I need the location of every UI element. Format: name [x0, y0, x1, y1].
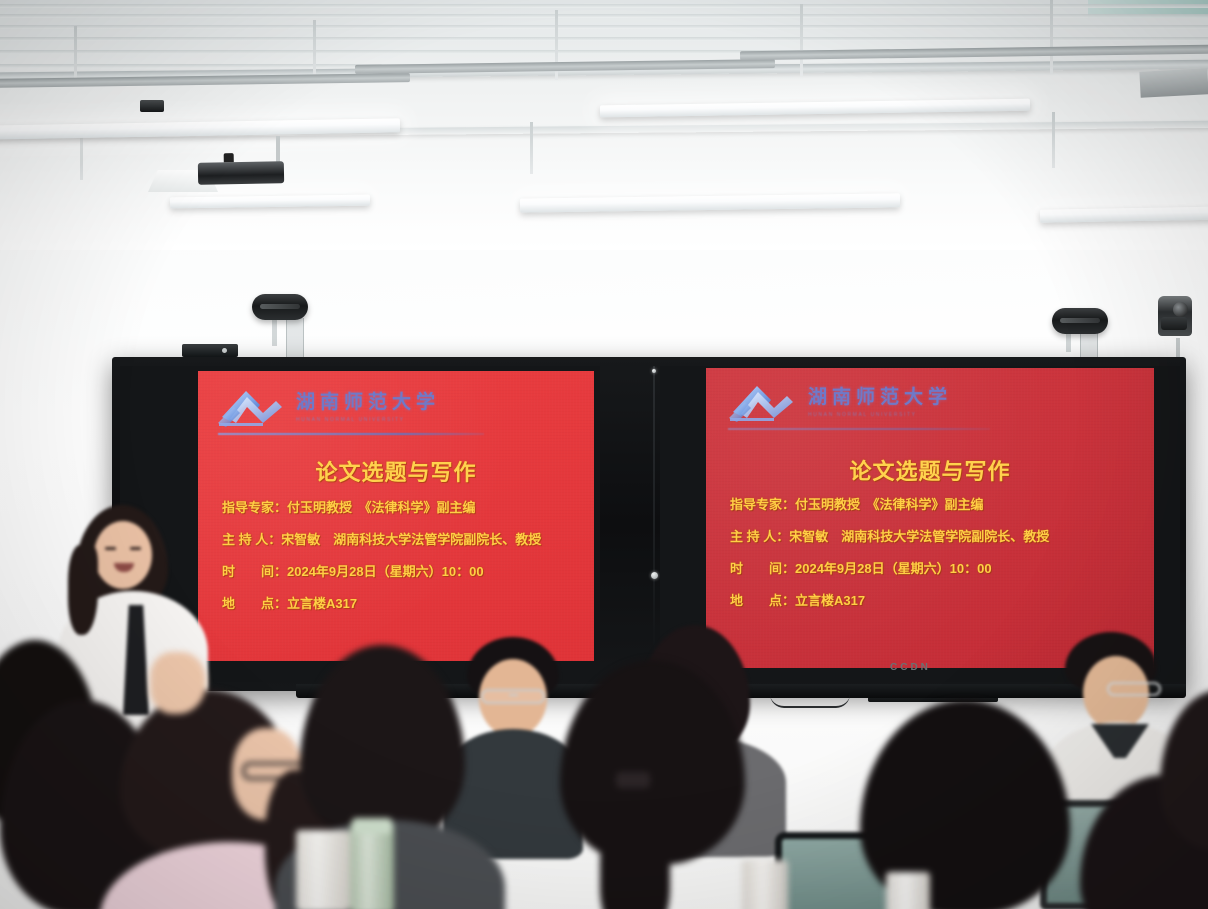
panel-seam — [653, 366, 655, 682]
wall-speaker-right — [1052, 308, 1108, 334]
slide-line-host-right: 主 持 人：宋智敏 湖南科技大学法管学院副院长、教授 — [730, 526, 1049, 545]
slide-line-expert-left: 指导专家：付玉明教授 《法律科学》副主编 — [222, 497, 476, 516]
slide-title-left: 论文选题与写作 — [198, 455, 594, 487]
wall-control-box — [182, 344, 238, 357]
ptz-camera-body — [1161, 317, 1187, 330]
slide-value-expert-right: 付玉明教授 《法律科学》副主编 — [795, 497, 984, 512]
mountain-emblem-icon-right — [726, 378, 802, 424]
ceiling-light-2 — [520, 193, 900, 212]
university-name-cn: 湖南师范大学 — [296, 387, 440, 414]
university-name-cn-right: 湖南师范大学 — [808, 382, 952, 409]
display-brand-label: CCDN — [890, 662, 931, 673]
ptz-camera — [1158, 296, 1192, 336]
slide-value-place-right: 立言楼A317 — [795, 593, 865, 608]
presenter-head — [94, 521, 152, 589]
panel-seam-sensor — [651, 572, 658, 579]
ponytail-tail — [600, 810, 670, 909]
wall-speaker-left — [252, 294, 308, 320]
water-bottle-cap — [352, 818, 392, 834]
slide-value-expert: 付玉明教授 《法律科学》副主编 — [287, 500, 476, 515]
slide-line-time-right: 时 间：2024年9月28日（星期六）10：00 — [730, 558, 992, 577]
ceiling-projector — [198, 161, 284, 184]
projector-mount — [276, 136, 280, 164]
lecture-hall-screenshot: 湖南师范大学 HUNAN NORMAL UNIVERSITY 论文选题与写作 指… — [0, 0, 1208, 909]
slide-value-host: 宋智敏 湖南科技大学法管学院副院长、教授 — [281, 532, 541, 547]
presenter-eye-l — [105, 547, 116, 550]
slide-label-expert-right: 指导专家： — [730, 497, 795, 512]
slide-value-time-right: 2024年9月28日（星期六）10：00 — [795, 561, 992, 576]
slide-value-time: 2024年9月28日（星期六）10：00 — [287, 564, 484, 579]
panel-seam-led — [652, 369, 656, 373]
ceiling-light-5 — [600, 99, 1030, 118]
slide-label-host: 主 持 人： — [222, 532, 281, 547]
university-logo-right: 湖南师范大学 HUNAN NORMAL UNIVERSITY — [726, 378, 952, 424]
university-name-en: HUNAN NORMAL UNIVERSITY — [296, 417, 440, 423]
presenter-hair-side — [68, 545, 98, 635]
thermos-cup — [296, 830, 350, 909]
wall-control-box-led — [222, 348, 227, 353]
slide-label-place-right: 地 点： — [730, 593, 795, 608]
slide-label-place: 地 点： — [222, 596, 287, 611]
slide-value-place: 立言楼A317 — [287, 596, 357, 611]
slide-line-place-right: 地 点：立言楼A317 — [730, 590, 865, 609]
desk-cup-right — [742, 860, 788, 909]
slide-line-expert-right: 指导专家：付玉明教授 《法律科学》副主编 — [730, 494, 984, 513]
ceiling-light-4 — [170, 195, 370, 209]
logo-underline — [218, 433, 484, 435]
slide-label-time: 时 间： — [222, 564, 287, 579]
speaker-left-pole — [286, 318, 304, 362]
ptz-camera-lens — [1173, 302, 1188, 317]
ceiling-minicam-icon — [140, 100, 164, 112]
ceiling-rail-3 — [740, 45, 1208, 61]
slide-label-time-right: 时 间： — [730, 561, 795, 576]
presenter-hand — [150, 652, 206, 714]
presenter-eye-r — [130, 547, 141, 550]
ceiling-light-3 — [1040, 206, 1208, 222]
man-glasses-bridge — [509, 694, 518, 696]
slide-left: 湖南师范大学 HUNAN NORMAL UNIVERSITY 论文选题与写作 指… — [198, 371, 594, 661]
slide-label-expert: 指导专家： — [222, 500, 287, 515]
water-bottle — [350, 822, 394, 909]
logo-underline-right — [728, 428, 990, 430]
slide-right: 湖南师范大学 HUNAN NORMAL UNIVERSITY 论文选题与写作 指… — [706, 368, 1154, 668]
mountain-emblem-icon — [216, 383, 290, 429]
desk-cup-far-right — [886, 872, 930, 909]
slide-line-host-left: 主 持 人：宋智敏 湖南科技大学法管学院副院长、教授 — [222, 529, 541, 548]
man-glasses-icon — [481, 689, 545, 704]
university-name-en-right: HUNAN NORMAL UNIVERSITY — [808, 412, 952, 418]
university-logo-left: 湖南师范大学 HUNAN NORMAL UNIVERSITY — [216, 383, 440, 429]
ceiling — [0, 0, 1208, 250]
display-cable — [770, 694, 850, 708]
man2-glasses-icon — [1107, 682, 1161, 696]
slide-line-time-left: 时 间：2024年9月28日（星期六）10：00 — [222, 561, 484, 580]
slide-label-host-right: 主 持 人： — [730, 529, 789, 544]
ceiling-bracket-right — [1139, 68, 1208, 98]
hair-clip-icon — [616, 772, 650, 788]
slide-value-host-right: 宋智敏 湖南科技大学法管学院副院长、教授 — [789, 529, 1049, 544]
slide-line-place-left: 地 点：立言楼A317 — [222, 593, 357, 612]
slide-title-right: 论文选题与写作 — [706, 454, 1154, 486]
